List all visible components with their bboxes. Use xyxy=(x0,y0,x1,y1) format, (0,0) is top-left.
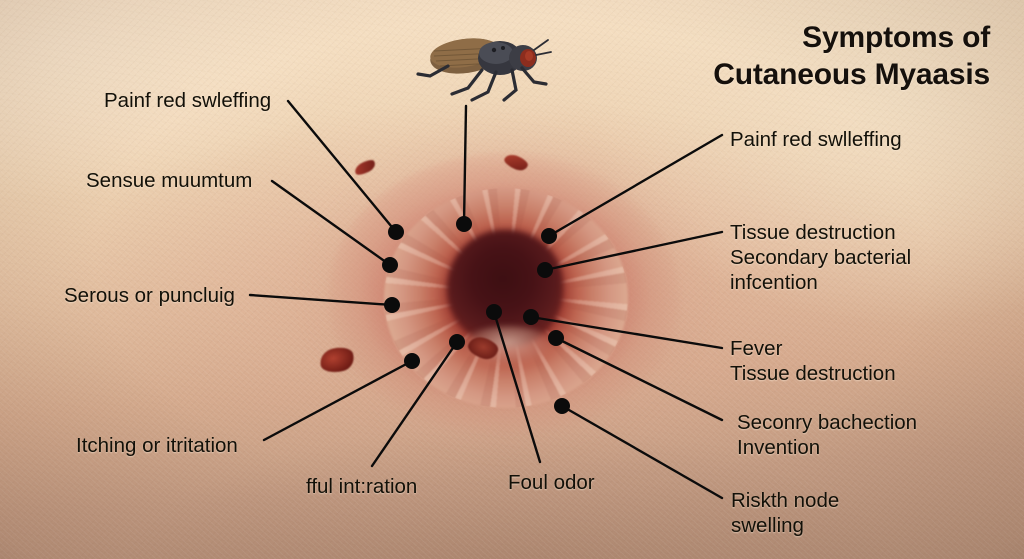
leader-foul-odor xyxy=(494,312,540,462)
leader-sensue-muumtum-dot xyxy=(382,257,398,273)
leader-fly-pointer xyxy=(464,106,466,224)
leader-seconry-bachection-dot xyxy=(548,330,564,346)
label-seconry-bachection-group: Seconry bachection Invention xyxy=(737,410,917,460)
label-sensue-muumtum: Sensue muumtum xyxy=(86,168,252,193)
label-fever-group: Fever Tissue destruction xyxy=(730,336,896,386)
label-painf-red-swleffing: Painf red swleffing xyxy=(104,88,271,113)
leader-itching-or-itritation xyxy=(264,361,412,440)
cutaneous-myiasis-infographic: Symptoms of Cutaneous Myaasis Painf red … xyxy=(0,0,1024,559)
page-title: Symptoms of Cutaneous Myaasis xyxy=(680,20,990,93)
label-serous-or-puncluig: Serous or puncluig xyxy=(64,283,235,308)
label-riskth-node-swelling: Riskth node swelling xyxy=(731,488,839,538)
title-line-1: Symptoms of xyxy=(680,20,990,57)
leader-foul-odor-dot xyxy=(486,304,502,320)
leader-seconry-bachection xyxy=(556,338,722,420)
title-line-2: Cutaneous Myaasis xyxy=(680,57,990,94)
leader-serous-or-puncluig xyxy=(250,295,392,305)
label-tissue-destruction-group: Tissue destruction Secondary bacterial i… xyxy=(730,220,911,295)
leader-tissue-destruction-top-dot xyxy=(537,262,553,278)
leader-fever-tissue-destruction-dot xyxy=(523,309,539,325)
label-foul-odor: Foul odor xyxy=(508,470,595,495)
leader-painf-red-swlleffing-right xyxy=(549,135,722,236)
leader-painf-red-swlleffing-right-dot xyxy=(541,228,557,244)
label-itching-or-itritation: Itching or itritation xyxy=(76,433,238,458)
leader-riskth-node-swelling-dot xyxy=(554,398,570,414)
leader-fly-pointer-dot xyxy=(456,216,472,232)
leader-painf-red-swleffing-left-dot xyxy=(388,224,404,240)
leader-serous-or-puncluig-dot xyxy=(384,297,400,313)
leader-painf-red-swleffing-left xyxy=(288,101,396,232)
label-painf-red-swlleffing: Painf red swlleffing xyxy=(730,127,902,152)
leader-tissue-destruction-top xyxy=(545,232,722,270)
leader-sensue-muumtum xyxy=(272,181,390,265)
label-fful-intration: fful int:ration xyxy=(306,474,417,499)
leader-fful-intration-dot xyxy=(449,334,465,350)
leader-itching-or-itritation-dot xyxy=(404,353,420,369)
